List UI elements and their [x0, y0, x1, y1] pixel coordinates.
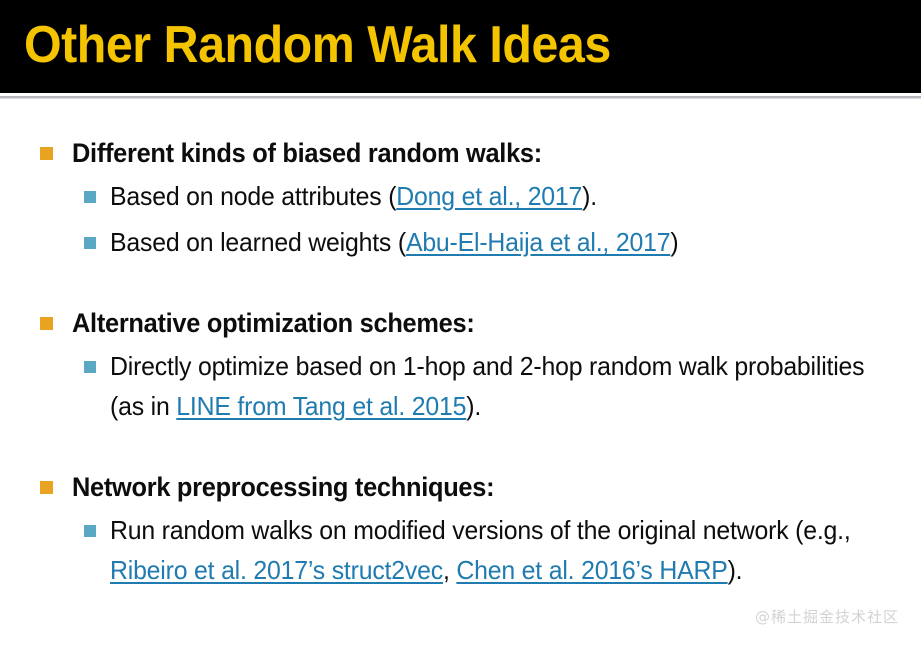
text-after-link: ).: [728, 555, 743, 585]
bullet-level2-text: Based on learned weights (Abu-El-Haija e…: [110, 222, 678, 262]
spacer: [0, 262, 921, 278]
bullet-group-1: Different kinds of biased random walks: …: [0, 136, 921, 262]
bullet-level2-modified-versions: Run random walks on modified versions of…: [0, 510, 921, 590]
text-after-link: ).: [466, 391, 481, 421]
text-between-links: ,: [443, 555, 456, 585]
title-divider-light: [0, 98, 921, 99]
link-dong-et-al-2017[interactable]: Dong et al., 2017: [396, 181, 582, 211]
bullet-level1-network-preprocessing: Network preprocessing techniques:: [0, 470, 921, 504]
bullet-level1-label: Network preprocessing techniques:: [72, 470, 494, 504]
bullet-level2-text: Run random walks on modified versions of…: [110, 510, 885, 590]
bullet-group-3: Network preprocessing techniques: Run ra…: [0, 470, 921, 590]
link-abu-el-haija-et-al-2017[interactable]: Abu-El-Haija et al., 2017: [406, 227, 670, 257]
bullet-level2-node-attributes: Based on node attributes (Dong et al., 2…: [0, 176, 921, 216]
bullet-level1-label: Alternative optimization schemes:: [72, 306, 475, 340]
square-bullet-icon: [84, 361, 96, 373]
bullet-level2-directly-optimize: Directly optimize based on 1-hop and 2-h…: [0, 346, 921, 426]
link-chen-et-al-2016-harp[interactable]: Chen et al. 2016’s HARP: [456, 555, 727, 585]
text-before-link: Based on learned weights (: [110, 227, 406, 257]
bullet-level1-label: Different kinds of biased random walks:: [72, 136, 542, 170]
text-before-link: Based on node attributes (: [110, 181, 396, 211]
bullet-level2-learned-weights: Based on learned weights (Abu-El-Haija e…: [0, 222, 921, 262]
bullet-level1-alternative-optimization: Alternative optimization schemes:: [0, 306, 921, 340]
link-line-tang-et-al-2015[interactable]: LINE from Tang et al. 2015: [176, 391, 466, 421]
square-bullet-icon: [84, 237, 96, 249]
spacer: [0, 426, 921, 442]
square-bullet-icon: [84, 525, 96, 537]
slide-body: Different kinds of biased random walks: …: [0, 108, 921, 651]
page-title: Other Random Walk Ideas: [24, 11, 611, 79]
square-bullet-icon: [40, 147, 53, 160]
text-after-link: ): [670, 227, 678, 257]
bullet-level1-biased-random-walks: Different kinds of biased random walks:: [0, 136, 921, 170]
square-bullet-icon: [40, 317, 53, 330]
bullet-level2-text: Based on node attributes (Dong et al., 2…: [110, 176, 597, 216]
watermark: @稀土掘金技术社区: [755, 606, 899, 627]
text-after-link: ).: [582, 181, 597, 211]
link-ribeiro-et-al-2017-struct2vec[interactable]: Ribeiro et al. 2017’s struct2vec: [110, 555, 443, 585]
bullet-level2-text: Directly optimize based on 1-hop and 2-h…: [110, 346, 885, 426]
square-bullet-icon: [40, 481, 53, 494]
bullet-group-2: Alternative optimization schemes: Direct…: [0, 306, 921, 426]
square-bullet-icon: [84, 191, 96, 203]
text-before-link: Run random walks on modified versions of…: [110, 515, 851, 545]
